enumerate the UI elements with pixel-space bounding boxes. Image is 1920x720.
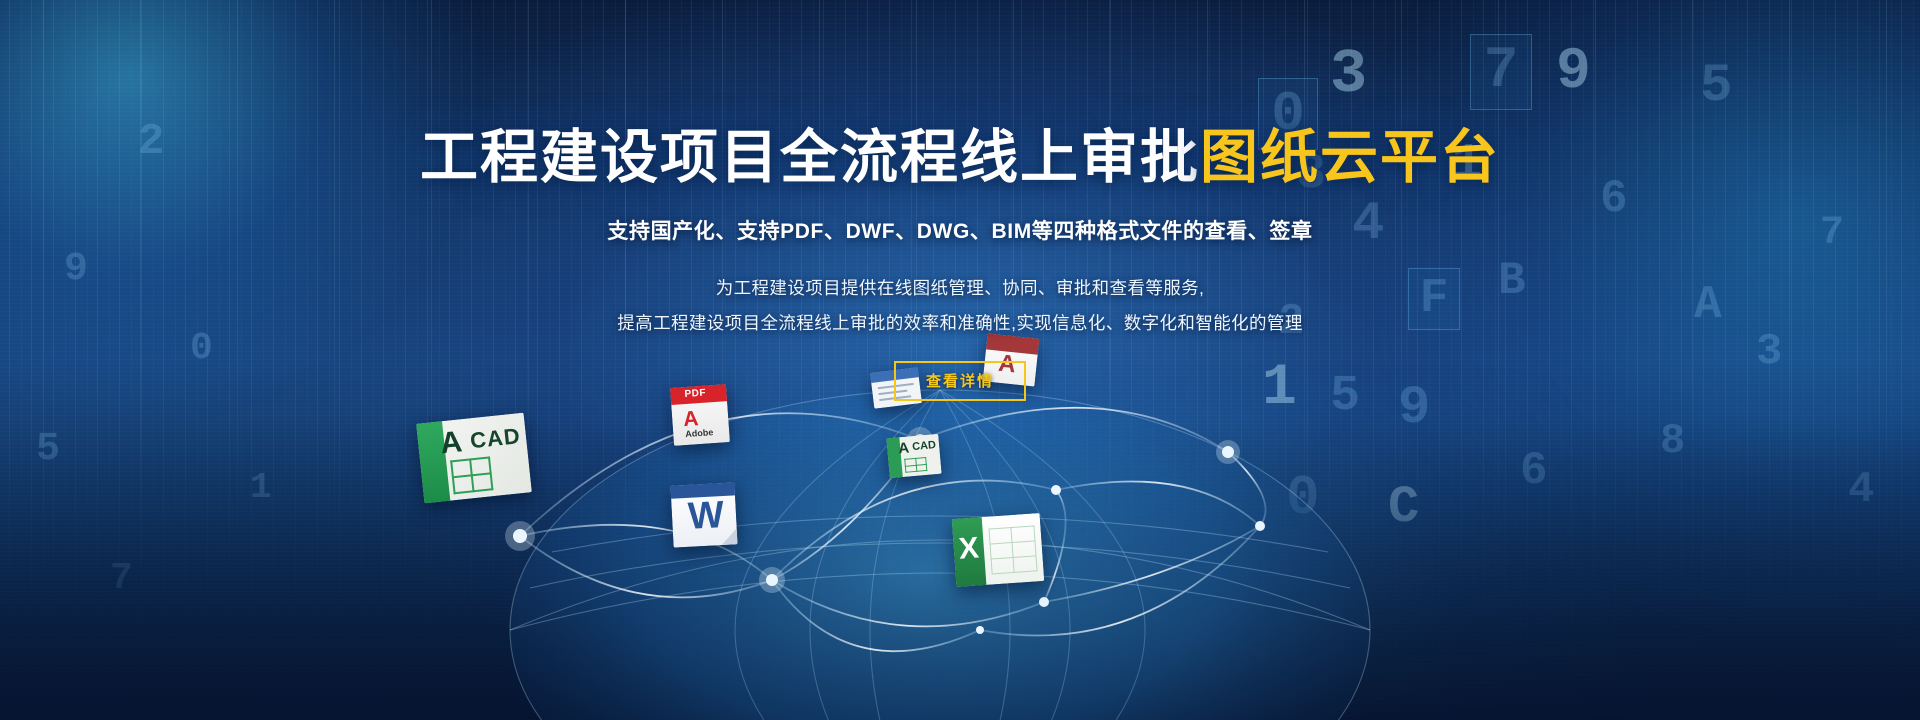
cad-file-icon: ACAD xyxy=(416,413,532,504)
banner-description: 为工程建设项目提供在线图纸管理、协同、审批和查看等服务, 提高工程建设项目全流程… xyxy=(0,271,1920,341)
page-title-accent: 图纸云平台 xyxy=(1200,125,1500,190)
cad-small-file-icon: ACAD xyxy=(886,434,941,478)
banner-description-line-1: 为工程建设项目提供在线图纸管理、协同、审批和查看等服务, xyxy=(0,271,1920,306)
page-title: 工程建设项目全流程线上审批图纸云平台 xyxy=(0,126,1920,191)
page-title-primary: 工程建设项目全流程线上审批 xyxy=(420,125,1200,190)
banner-content: 工程建设项目全流程线上审批图纸云平台 支持国产化、支持PDF、DWF、DWG、B… xyxy=(0,0,1920,401)
banner-subtitle-primary: 支持国产化、支持PDF、DWF、DWG、BIM等四种格式文件的查看、签章 xyxy=(0,215,1920,245)
excel-file-icon: X xyxy=(952,513,1045,587)
cta-container: 查看详情 xyxy=(0,361,1920,401)
hero-banner: 379058146FB2A1590C68374290517 xyxy=(0,0,1920,720)
banner-description-line-2: 提高工程建设项目全流程线上审批的效率和准确性,实现信息化、数字化和智能化的管理 xyxy=(0,306,1920,341)
view-details-button[interactable]: 查看详情 xyxy=(894,361,1026,401)
word-file-icon: W xyxy=(670,482,737,547)
